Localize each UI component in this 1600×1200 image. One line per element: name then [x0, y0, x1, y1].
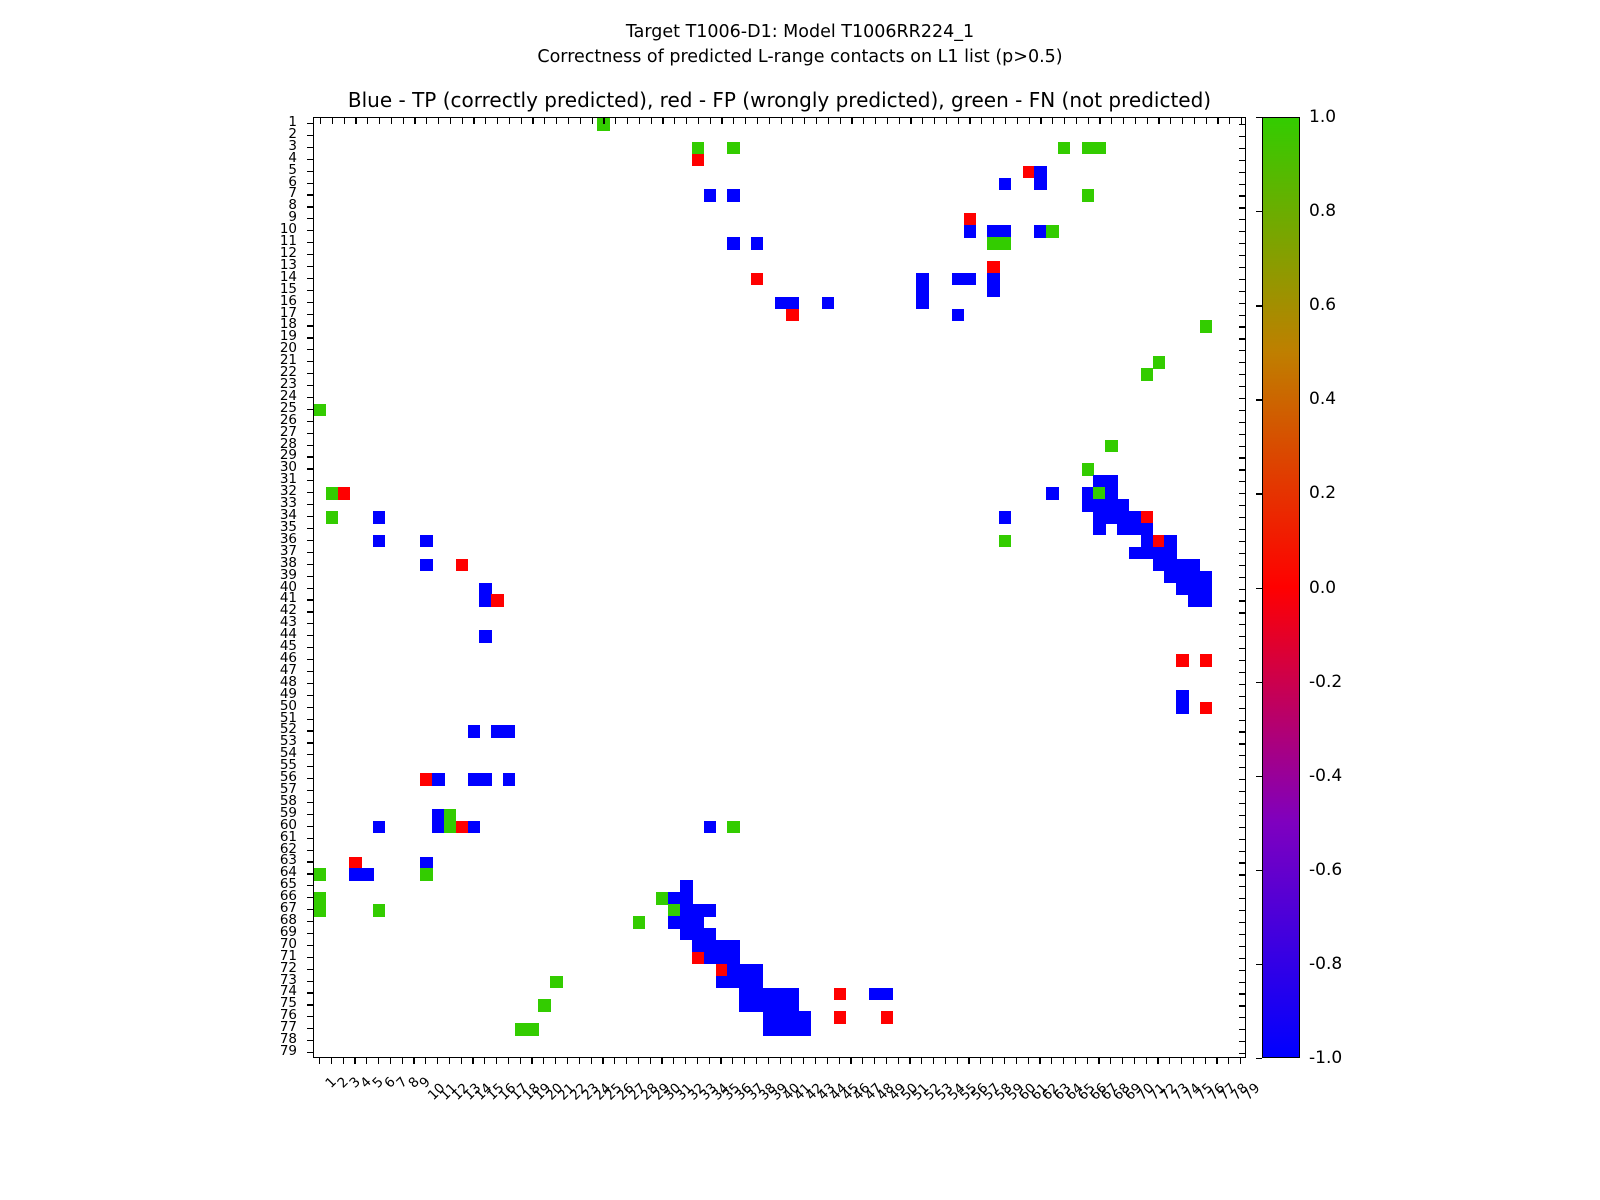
y-tick-mark-right: [1239, 410, 1245, 411]
contact-cell-tp: [1188, 594, 1200, 607]
contact-cell-tp: [786, 988, 798, 1001]
contact-cell-tp: [373, 511, 385, 524]
y-tick-mark-right: [1239, 160, 1245, 161]
y-tick-mark-right: [1239, 148, 1245, 149]
x-tick-mark: [1216, 1058, 1217, 1064]
contact-cell-fp: [456, 821, 468, 834]
x-tick-mark-top: [355, 118, 356, 124]
x-tick-mark-top: [497, 118, 498, 124]
x-tick-mark: [378, 1058, 379, 1064]
contact-cell-fp: [881, 1011, 893, 1024]
contact-cell-fn: [538, 999, 550, 1012]
contact-cell-tp: [1046, 487, 1058, 500]
contact-cell-tp: [1164, 571, 1176, 584]
contact-cell-tp: [1117, 523, 1129, 536]
x-tick-mark-top: [710, 118, 711, 124]
contact-map-plot-area[interactable]: [313, 117, 1246, 1058]
x-tick-mark: [921, 1058, 922, 1064]
colorbar-tick-label: 0.4: [1309, 389, 1336, 409]
contact-cell-tp: [751, 988, 763, 1001]
contact-cell-tp: [692, 928, 704, 941]
contact-cell-tp: [1153, 547, 1165, 560]
y-tick-mark-right: [1239, 1005, 1245, 1006]
x-tick-mark-top: [450, 118, 451, 124]
contact-cell-fn: [633, 916, 645, 929]
axes-title-legend: Blue - TP (correctly predicted), red - F…: [313, 88, 1246, 112]
y-tick-mark-right: [1239, 493, 1245, 494]
contact-cell-tp: [987, 225, 999, 238]
contact-cell-fn: [515, 1023, 527, 1036]
colorbar-tick-label: -0.4: [1309, 766, 1342, 786]
y-tick-mark-right: [1239, 315, 1245, 316]
x-tick-mark: [1075, 1058, 1076, 1064]
x-tick-mark-top: [875, 118, 876, 124]
x-tick-mark-top: [1217, 118, 1218, 124]
contact-cell-fp: [834, 1011, 846, 1024]
contact-cell-tp: [775, 1023, 787, 1036]
x-tick-mark-top: [887, 118, 888, 124]
x-tick-mark: [437, 1058, 438, 1064]
y-tick-mark-right: [1239, 481, 1245, 482]
contact-cell-fn: [656, 892, 668, 905]
contact-cell-tp: [1200, 594, 1212, 607]
colorbar-tick-label: 1.0: [1309, 107, 1336, 127]
colorbar-tick-mark: [1256, 211, 1262, 212]
contact-cell-fn: [1082, 189, 1094, 202]
contact-cell-tp: [1176, 690, 1188, 703]
x-tick-mark: [827, 1058, 828, 1064]
y-tick-mark-right: [1239, 874, 1245, 875]
contact-cell-tp: [373, 535, 385, 548]
contact-cell-fp: [834, 988, 846, 1001]
contact-cell-fn: [1046, 225, 1058, 238]
contact-cell-tp: [349, 868, 361, 881]
x-tick-mark-top: [1029, 118, 1030, 124]
x-tick-mark-top: [1099, 118, 1100, 124]
y-tick-mark-right: [1239, 720, 1245, 721]
contact-cell-fp: [420, 773, 432, 786]
x-tick-mark-top: [958, 118, 959, 124]
contact-cell-tp: [1117, 499, 1129, 512]
x-tick-mark: [626, 1058, 627, 1064]
y-tick-mark-right: [1239, 886, 1245, 887]
contact-cell-fn: [1082, 463, 1094, 476]
contact-cell-tp: [798, 1023, 810, 1036]
x-tick-mark: [933, 1058, 934, 1064]
contact-cell-tp: [1105, 499, 1117, 512]
y-tick-mark-right: [1239, 743, 1245, 744]
contact-cell-tp: [1200, 571, 1212, 584]
contact-cell-fp: [692, 154, 704, 167]
y-tick-mark-right: [1239, 779, 1245, 780]
x-tick-mark-top: [426, 118, 427, 124]
contact-cell-fn: [1141, 368, 1153, 381]
contact-cell-fn: [314, 868, 326, 881]
contact-cell-tp: [727, 976, 739, 989]
contact-cell-tp: [692, 904, 704, 917]
x-tick-mark: [968, 1058, 969, 1064]
y-tick-mark-right: [1239, 398, 1245, 399]
x-tick-mark-top: [1040, 118, 1041, 124]
y-tick-mark-right: [1239, 374, 1245, 375]
contact-cell-fp: [1023, 166, 1035, 179]
colorbar[interactable]: [1262, 117, 1300, 1058]
y-tick-mark-right: [1239, 708, 1245, 709]
y-tick-mark-right: [1239, 815, 1245, 816]
contact-cell-tp: [739, 999, 751, 1012]
x-tick-mark-top: [969, 118, 970, 124]
x-tick-mark: [850, 1058, 851, 1064]
contact-cell-tp: [775, 999, 787, 1012]
x-tick-mark: [1028, 1058, 1029, 1064]
contact-cell-tp: [739, 964, 751, 977]
contact-cell-fn: [444, 821, 456, 834]
x-tick-mark-top: [592, 118, 593, 124]
contact-cell-tp: [479, 594, 491, 607]
x-tick-mark: [732, 1058, 733, 1064]
contact-cell-tp: [952, 273, 964, 286]
contact-cell-tp: [1188, 571, 1200, 584]
contact-cell-tp: [1093, 511, 1105, 524]
contact-cell-tp: [432, 809, 444, 822]
y-tick-mark-right: [1239, 434, 1245, 435]
colorbar-tick-mark: [1256, 870, 1262, 871]
contact-cell-tp: [822, 297, 834, 310]
x-tick-mark: [508, 1058, 509, 1064]
y-tick-mark-right: [1239, 636, 1245, 637]
contact-cell-tp: [739, 976, 751, 989]
x-tick-mark: [1228, 1058, 1229, 1064]
y-tick-mark-right: [1239, 672, 1245, 673]
contact-cell-tp: [361, 868, 373, 881]
contact-cell-fn: [1153, 356, 1165, 369]
x-tick-mark: [862, 1058, 863, 1064]
x-tick-mark: [697, 1058, 698, 1064]
contact-cell-tp: [786, 1023, 798, 1036]
contact-cell-fp: [456, 559, 468, 572]
contact-cell-tp: [704, 952, 716, 965]
contact-cell-tp: [704, 928, 716, 941]
contact-cell-fp: [1200, 654, 1212, 667]
contact-cell-fp: [786, 309, 798, 322]
x-tick-mark-top: [580, 118, 581, 124]
x-tick-mark-top: [698, 118, 699, 124]
contact-cell-tp: [704, 940, 716, 953]
contact-cell-fn: [314, 404, 326, 417]
y-tick-mark-right: [1239, 517, 1245, 518]
contact-cell-fp: [964, 213, 976, 226]
colorbar-tick-label: -1.0: [1309, 1048, 1342, 1068]
contact-cell-tp: [479, 583, 491, 596]
contact-cell-tp: [964, 273, 976, 286]
x-tick-mark: [886, 1058, 887, 1064]
x-tick-mark-top: [414, 118, 415, 124]
x-tick-mark: [839, 1058, 840, 1064]
contact-cell-fp: [338, 487, 350, 500]
contact-cell-tp: [692, 916, 704, 929]
contact-cell-tp: [479, 630, 491, 643]
contact-cell-tp: [763, 988, 775, 1001]
contact-cell-tp: [680, 928, 692, 941]
y-tick-mark-right: [1239, 1017, 1245, 1018]
x-tick-mark: [543, 1058, 544, 1064]
x-tick-mark: [472, 1058, 473, 1064]
y-tick-mark-right: [1239, 589, 1245, 590]
contact-cell-tp: [704, 821, 716, 834]
x-tick-mark-top: [1158, 118, 1159, 124]
y-tick-mark-right: [1239, 934, 1245, 935]
colorbar-tick-mark: [1256, 117, 1262, 118]
contact-cell-fn: [1200, 320, 1212, 333]
contact-cell-tp: [869, 988, 881, 1001]
x-tick-mark-top: [686, 118, 687, 124]
contact-cell-fn: [727, 821, 739, 834]
x-tick-mark: [531, 1058, 532, 1064]
x-tick-mark-top: [391, 118, 392, 124]
x-tick-mark-top: [934, 118, 935, 124]
contact-cell-tp: [1117, 511, 1129, 524]
x-tick-mark: [673, 1058, 674, 1064]
contact-cell-fn: [314, 892, 326, 905]
contact-cell-tp: [763, 999, 775, 1012]
y-tick-mark-right: [1239, 862, 1245, 863]
x-tick-mark-top: [568, 118, 569, 124]
contact-cell-tp: [727, 189, 739, 202]
contact-cell-fp: [716, 964, 728, 977]
x-tick-mark: [402, 1058, 403, 1064]
contact-cell-fn: [1105, 440, 1117, 453]
y-tick-mark-right: [1239, 684, 1245, 685]
colorbar-tick-mark: [1256, 588, 1262, 589]
contact-cell-fn: [999, 535, 1011, 548]
x-tick-mark: [1098, 1058, 1099, 1064]
contact-cell-tp: [1034, 166, 1046, 179]
x-tick-mark-top: [1111, 118, 1112, 124]
x-tick-mark: [980, 1058, 981, 1064]
y-tick-mark-right: [1239, 279, 1245, 280]
x-tick-mark-top: [1241, 118, 1242, 124]
x-tick-mark: [1205, 1058, 1206, 1064]
contact-cell-fn: [326, 511, 338, 524]
y-tick-mark-right: [1239, 219, 1245, 220]
y-tick-mark-right: [1239, 446, 1245, 447]
contact-cell-tp: [1200, 583, 1212, 596]
contact-cell-tp: [1129, 511, 1141, 524]
x-tick-mark-top: [863, 118, 864, 124]
y-tick-mark-right: [1239, 422, 1245, 423]
contact-cell-tp: [1188, 583, 1200, 596]
contact-cell-fn: [727, 142, 739, 155]
x-tick-mark: [1193, 1058, 1194, 1064]
x-tick-mark-top: [757, 118, 758, 124]
contact-cell-tp: [1129, 547, 1141, 560]
contact-cell-tp: [1141, 535, 1153, 548]
x-tick-mark: [1051, 1058, 1052, 1064]
contact-cell-fn: [444, 809, 456, 822]
contact-cell-tp: [704, 904, 716, 917]
contact-cell-tp: [432, 773, 444, 786]
contact-cell-fp: [987, 261, 999, 274]
contact-cell-tp: [432, 821, 444, 834]
contact-cell-tp: [786, 297, 798, 310]
x-tick-mark: [449, 1058, 450, 1064]
x-tick-mark: [354, 1058, 355, 1064]
y-tick-mark-right: [1239, 565, 1245, 566]
y-tick-mark-right: [1239, 577, 1245, 578]
contact-cell-tp: [775, 297, 787, 310]
x-tick-mark-top: [981, 118, 982, 124]
y-tick-mark-right: [1239, 1041, 1245, 1042]
contact-cell-tp: [1093, 475, 1105, 488]
contact-cell-tp: [1164, 547, 1176, 560]
x-tick-mark-top: [922, 118, 923, 124]
x-tick-mark: [1134, 1058, 1135, 1064]
x-tick-mark-top: [1170, 118, 1171, 124]
x-tick-mark-top: [532, 118, 533, 124]
contact-cell-tp: [916, 285, 928, 298]
contact-cell-tp: [881, 988, 893, 1001]
contact-cell-fn: [420, 868, 432, 881]
contact-cell-fn: [668, 904, 680, 917]
contact-cell-fp: [1141, 511, 1153, 524]
contact-cell-tp: [798, 1011, 810, 1024]
contact-cell-tp: [751, 237, 763, 250]
contact-cell-tp: [1093, 523, 1105, 536]
contact-cell-tp: [1153, 559, 1165, 572]
x-tick-mark-top: [674, 118, 675, 124]
x-tick-mark: [520, 1058, 521, 1064]
x-tick-mark: [343, 1058, 344, 1064]
x-tick-mark-top: [603, 118, 604, 124]
x-tick-mark-top: [769, 118, 770, 124]
x-tick-mark-top: [946, 118, 947, 124]
contact-cell-tp: [987, 285, 999, 298]
y-axis: 1234567891011121314151617181920212223242…: [0, 117, 307, 1058]
colorbar-tick-label: -0.8: [1309, 954, 1342, 974]
y-tick-label: 79: [280, 1046, 297, 1058]
y-tick-mark-right: [1239, 1053, 1245, 1054]
contact-cell-tp: [668, 892, 680, 905]
x-tick-mark: [1039, 1058, 1040, 1064]
contact-cell-tp: [1082, 499, 1094, 512]
x-tick-mark: [756, 1058, 757, 1064]
contact-cell-tp: [503, 773, 515, 786]
contact-cell-fp: [349, 857, 361, 870]
x-tick-mark-top: [781, 118, 782, 124]
y-tick-mark-right: [1239, 803, 1245, 804]
y-tick-mark-right: [1239, 910, 1245, 911]
contact-cell-tp: [1141, 547, 1153, 560]
contact-cell-fn: [550, 976, 562, 989]
x-tick-mark: [1240, 1058, 1241, 1064]
contact-cell-fp: [1153, 535, 1165, 548]
x-tick-mark-top: [367, 118, 368, 124]
x-tick-mark: [413, 1058, 414, 1064]
y-tick-mark-right: [1239, 207, 1245, 208]
y-tick-mark-right: [1239, 660, 1245, 661]
x-tick-mark-top: [332, 118, 333, 124]
y-tick-mark-right: [1239, 136, 1245, 137]
contact-cell-tp: [680, 904, 692, 917]
x-tick-mark-top: [379, 118, 380, 124]
contact-cell-tp: [1176, 571, 1188, 584]
contact-cell-tp: [751, 999, 763, 1012]
colorbar-tick-mark: [1256, 964, 1262, 965]
contact-cell-tp: [1105, 475, 1117, 488]
y-tick-mark-right: [1239, 267, 1245, 268]
contact-cell-tp: [727, 237, 739, 250]
x-tick-mark: [803, 1058, 804, 1064]
x-tick-mark-top: [509, 118, 510, 124]
x-tick-mark: [1004, 1058, 1005, 1064]
contact-cell-tp: [964, 225, 976, 238]
x-tick-mark: [1110, 1058, 1111, 1064]
contact-cell-tp: [775, 988, 787, 1001]
colorbar-tick-mark: [1256, 305, 1262, 306]
x-tick-mark: [1157, 1058, 1158, 1064]
suptitle-line-1: Target T1006-D1: Model T1006RR224_1: [0, 20, 1600, 45]
contact-cell-tp: [952, 309, 964, 322]
y-tick-mark-right: [1239, 505, 1245, 506]
x-tick-mark: [791, 1058, 792, 1064]
x-tick-mark-top: [1076, 118, 1077, 124]
x-tick-mark: [390, 1058, 391, 1064]
x-tick-mark: [496, 1058, 497, 1064]
x-tick-mark-top: [320, 118, 321, 124]
contact-cell-fn: [1082, 142, 1094, 155]
x-tick-mark-top: [1182, 118, 1183, 124]
contact-cell-fn: [527, 1023, 539, 1036]
y-tick-mark-right: [1239, 600, 1245, 601]
x-tick-mark: [602, 1058, 603, 1064]
x-tick-mark: [685, 1058, 686, 1064]
contact-cell-fp: [751, 273, 763, 286]
contact-cell-fp: [1200, 702, 1212, 715]
x-tick-mark-top: [1206, 118, 1207, 124]
y-tick-mark-right: [1239, 243, 1245, 244]
y-tick-mark-right: [1239, 338, 1245, 339]
x-tick-mark-top: [473, 118, 474, 124]
colorbar-tick-mark: [1256, 776, 1262, 777]
y-tick-mark-right: [1239, 982, 1245, 983]
contact-cell-tp: [786, 1011, 798, 1024]
y-tick-mark-right: [1239, 291, 1245, 292]
y-tick-mark-right: [1239, 624, 1245, 625]
x-tick-mark: [319, 1058, 320, 1064]
x-tick-mark-top: [1088, 118, 1089, 124]
x-tick-mark-top: [910, 118, 911, 124]
contact-cell-tp: [763, 1011, 775, 1024]
x-tick-mark: [614, 1058, 615, 1064]
y-tick-mark-right: [1239, 648, 1245, 649]
x-tick-mark-top: [993, 118, 994, 124]
y-tick-mark-right: [1239, 922, 1245, 923]
contact-cell-tp: [1176, 583, 1188, 596]
x-tick-mark-top: [792, 118, 793, 124]
figure-suptitle: Target T1006-D1: Model T1006RR224_1 Corr…: [0, 20, 1600, 70]
contact-cell-tp: [916, 273, 928, 286]
contact-cell-tp: [1105, 487, 1117, 500]
contact-cell-fn: [987, 237, 999, 250]
y-tick-mark-right: [1239, 350, 1245, 351]
x-tick-mark: [815, 1058, 816, 1064]
x-tick-mark: [661, 1058, 662, 1064]
contact-cell-tp: [727, 940, 739, 953]
contact-cell-tp: [668, 916, 680, 929]
x-tick-mark-top: [615, 118, 616, 124]
contact-cell-tp: [987, 273, 999, 286]
y-tick-mark-right: [1239, 767, 1245, 768]
